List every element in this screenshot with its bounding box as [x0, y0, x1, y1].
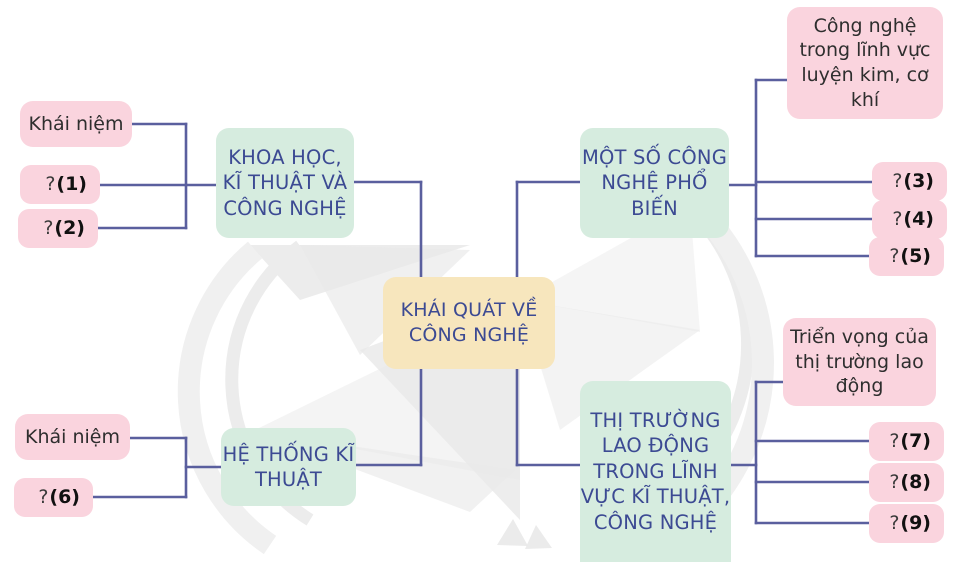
branch-node-he-thong-ki-thuat[interactable]: HỆ THỐNG KĨ THUẬT — [221, 428, 356, 506]
branch-node-thi-truong-lao-dong[interactable]: THỊ TRƯỜNG LAO ĐỘNG TRONG LĨNH VỰC KĨ TH… — [580, 381, 731, 562]
leaf-node-q7[interactable]: ?(7) — [869, 422, 944, 461]
question-mark: ? — [45, 172, 55, 197]
question-mark: ? — [43, 216, 53, 241]
leaf-node-q8[interactable]: ?(8) — [869, 463, 944, 502]
branch-node-khoa-hoc-ki-thuat-cong-nghe[interactable]: KHOA HỌC, KĨ THUẬT VÀ CÔNG NGHỆ — [216, 128, 354, 238]
question-mark: ? — [889, 511, 899, 536]
branch-node-label: THỊ TRƯỜNG LAO ĐỘNG TRONG LĨNH VỰC KĨ TH… — [580, 408, 731, 535]
leaf-node-q5[interactable]: ?(5) — [869, 237, 944, 276]
question-mark: ? — [892, 207, 902, 232]
leaf-node-trien-vong[interactable]: Triển vọng của thị trường lao động — [783, 318, 936, 406]
leaf-node-label: Triển vọng của thị trường lao động — [783, 325, 936, 399]
question-mark: ? — [892, 169, 902, 194]
leaf-node-label: Khái niệm — [25, 425, 120, 450]
leaf-node-q9[interactable]: ?(9) — [869, 504, 944, 543]
leaf-node-number: (3) — [903, 169, 934, 194]
leaf-node-label: Công nghệ trong lĩnh vực luyện kim, cơ k… — [787, 14, 943, 113]
branch-node-label: MỘT SỐ CÔNG NGHỆ PHỔ BIẾN — [580, 145, 729, 221]
leaf-node-q4[interactable]: ?(4) — [872, 200, 947, 239]
center-node-label: KHÁI QUÁT VỀ CÔNG NGHỆ — [383, 298, 555, 347]
leaf-node-number: (8) — [900, 470, 931, 495]
leaf-node-q6[interactable]: ?(6) — [14, 478, 93, 517]
leaf-node-khai-niem-2[interactable]: Khái niệm — [15, 414, 130, 460]
leaf-node-number: (9) — [900, 511, 931, 536]
leaf-node-number: (7) — [900, 429, 931, 454]
leaf-node-number: (5) — [900, 244, 931, 269]
leaf-node-number: (6) — [49, 485, 80, 510]
leaf-node-number: (2) — [54, 216, 85, 241]
leaf-node-label: Khái niệm — [29, 112, 124, 137]
leaf-node-number: (4) — [903, 207, 934, 232]
branch-node-mot-so-cong-nghe-pho-bien[interactable]: MỘT SỐ CÔNG NGHỆ PHỔ BIẾN — [580, 128, 729, 238]
question-mark: ? — [889, 470, 899, 495]
leaf-node-q1[interactable]: ?(1) — [20, 165, 100, 204]
leaf-node-q2[interactable]: ?(2) — [18, 209, 98, 248]
center-node[interactable]: KHÁI QUÁT VỀ CÔNG NGHỆ — [383, 277, 555, 369]
branch-node-label: KHOA HỌC, KĨ THUẬT VÀ CÔNG NGHỆ — [216, 145, 354, 221]
question-mark: ? — [889, 244, 899, 269]
leaf-node-q3[interactable]: ?(3) — [872, 162, 947, 201]
leaf-node-number: (1) — [56, 172, 87, 197]
leaf-node-khai-niem-1[interactable]: Khái niệm — [20, 101, 132, 147]
question-mark: ? — [38, 485, 48, 510]
mindmap-canvas: KHÁI QUÁT VỀ CÔNG NGHỆ KHOA HỌC, KĨ THUẬ… — [0, 0, 963, 562]
branch-node-label: HỆ THỐNG KĨ THUẬT — [221, 442, 356, 493]
question-mark: ? — [889, 429, 899, 454]
leaf-node-cong-nghe-luyen-kim[interactable]: Công nghệ trong lĩnh vực luyện kim, cơ k… — [787, 7, 943, 119]
